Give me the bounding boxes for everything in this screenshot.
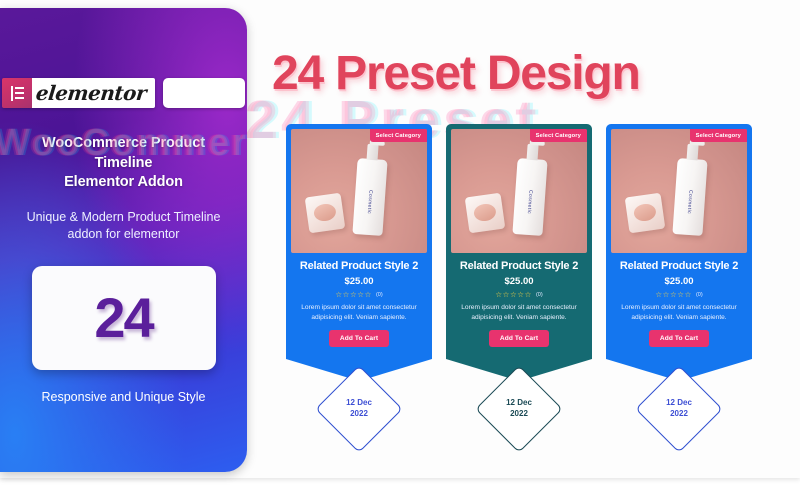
product-title[interactable]: Related Product Style 2 bbox=[611, 260, 747, 272]
page-title: 24 Preset Design bbox=[272, 46, 788, 101]
product-price: $25.00 bbox=[611, 276, 747, 287]
elementor-wordmark-text: elementor bbox=[35, 81, 148, 105]
product-thumbnail: Cosmetic Select Category bbox=[291, 129, 427, 253]
promo-subtitle-line-1: Unique & Modern Product Timeline bbox=[27, 209, 221, 227]
promo-panel: WooCommerce elem bbox=[0, 8, 247, 472]
soap-bar-prop bbox=[625, 193, 666, 234]
soap-bar-prop bbox=[305, 193, 346, 234]
rating-count: (0) bbox=[536, 292, 543, 298]
category-badge[interactable]: Select Category bbox=[530, 129, 587, 142]
product-card[interactable]: Cosmetic Select Category Related Product… bbox=[446, 124, 592, 381]
product-card[interactable]: Cosmetic Select Category Related Product… bbox=[606, 124, 752, 381]
timeline-date-year: 2022 bbox=[350, 409, 368, 420]
category-badge[interactable]: Select Category bbox=[690, 129, 747, 142]
preset-count-card: 24 bbox=[32, 266, 216, 370]
elementor-logo: elementor bbox=[2, 78, 244, 108]
product-title[interactable]: Related Product Style 2 bbox=[291, 260, 427, 272]
product-rating: ☆☆☆☆☆ (0) bbox=[611, 290, 747, 299]
cosmetic-bottle-image: Cosmetic bbox=[352, 158, 387, 236]
elementor-mark-icon bbox=[2, 78, 32, 108]
product-price: $25.00 bbox=[451, 276, 587, 287]
product-card-body: Cosmetic Select Category Related Product… bbox=[446, 124, 592, 359]
promo-title-line-1: WooCommerce Product Timeline bbox=[16, 134, 231, 173]
promo-title-line-2: Elementor Addon bbox=[16, 173, 231, 193]
product-thumbnail: Cosmetic Select Category bbox=[451, 129, 587, 253]
rating-count: (0) bbox=[376, 292, 383, 298]
bottle-label-text: Cosmetic bbox=[526, 190, 534, 214]
product-description: Lorem ipsum dolor sit amet consectetur a… bbox=[298, 303, 420, 323]
timeline-date-day: 12 Dec bbox=[666, 398, 692, 409]
cosmetic-bottle-image: Cosmetic bbox=[672, 158, 707, 236]
blank-logo-placeholder bbox=[163, 78, 245, 108]
product-cards-row: Cosmetic Select Category Related Product… bbox=[286, 124, 786, 454]
timeline-date-day: 12 Dec bbox=[506, 398, 532, 409]
category-badge[interactable]: Select Category bbox=[370, 129, 427, 142]
product-description: Lorem ipsum dolor sit amet consectetur a… bbox=[618, 303, 740, 323]
product-card-body: Cosmetic Select Category Related Product… bbox=[286, 124, 432, 359]
product-card[interactable]: Cosmetic Select Category Related Product… bbox=[286, 124, 432, 381]
timeline-date-marker: 12 Dec 2022 bbox=[648, 378, 710, 440]
screenshot-root: 24 Preset 24 Preset Design WooCommerce bbox=[0, 0, 800, 500]
star-rating-icon: ☆☆☆☆☆ bbox=[655, 290, 692, 299]
bottle-label-text: Cosmetic bbox=[366, 190, 374, 214]
product-rating: ☆☆☆☆☆ (0) bbox=[451, 290, 587, 299]
add-to-cart-button[interactable]: Add To Cart bbox=[489, 330, 549, 347]
timeline-date-marker: 12 Dec 2022 bbox=[488, 378, 550, 440]
elementor-logo-chip: elementor bbox=[2, 78, 154, 108]
star-rating-icon: ☆☆☆☆☆ bbox=[335, 290, 372, 299]
timeline-date-day: 12 Dec bbox=[346, 398, 372, 409]
preset-count-value: 24 bbox=[94, 285, 152, 350]
product-description: Lorem ipsum dolor sit amet consectetur a… bbox=[458, 303, 580, 323]
promo-footer-text: Responsive and Unique Style bbox=[42, 390, 206, 404]
bottle-label-text: Cosmetic bbox=[686, 190, 694, 214]
timeline-date-year: 2022 bbox=[670, 409, 688, 420]
product-rating: ☆☆☆☆☆ (0) bbox=[291, 290, 427, 299]
elementor-wordmark: elementor bbox=[32, 78, 154, 108]
timeline-date-year: 2022 bbox=[510, 409, 528, 420]
soap-bar-prop bbox=[465, 193, 506, 234]
add-to-cart-button[interactable]: Add To Cart bbox=[649, 330, 709, 347]
star-rating-icon: ☆☆☆☆☆ bbox=[495, 290, 532, 299]
timeline-date-marker: 12 Dec 2022 bbox=[328, 378, 390, 440]
add-to-cart-button[interactable]: Add To Cart bbox=[329, 330, 389, 347]
promo-subtitle-line-2: addon for elementor bbox=[27, 226, 221, 244]
product-thumbnail: Cosmetic Select Category bbox=[611, 129, 747, 253]
promo-title: WooCommerce Product Timeline Elementor A… bbox=[16, 134, 231, 193]
rating-count: (0) bbox=[696, 292, 703, 298]
product-title[interactable]: Related Product Style 2 bbox=[451, 260, 587, 272]
product-price: $25.00 bbox=[291, 276, 427, 287]
promo-subtitle: Unique & Modern Product Timeline addon f… bbox=[27, 209, 221, 244]
product-card-body: Cosmetic Select Category Related Product… bbox=[606, 124, 752, 359]
cosmetic-bottle-image: Cosmetic bbox=[512, 158, 547, 236]
